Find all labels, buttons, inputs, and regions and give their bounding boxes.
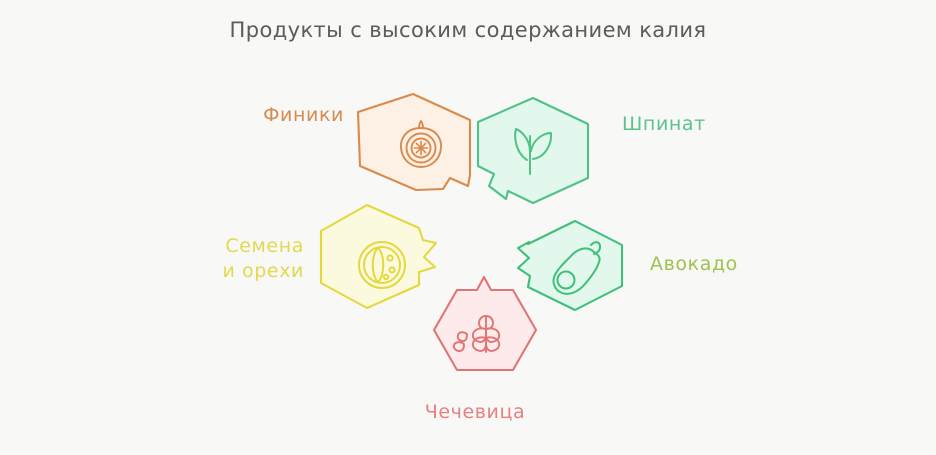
label-nuts: Семенаи орехи: [180, 234, 304, 284]
bubble-spinach-shape: [478, 98, 588, 203]
bubble-avocado[interactable]: [518, 221, 622, 310]
hexagon-bubbles-layer: [0, 0, 936, 455]
label-dates: Финики: [248, 103, 344, 128]
label-spinach: Шпинат: [622, 112, 752, 137]
label-avocado: Авокадо: [650, 252, 780, 277]
bubble-spinach[interactable]: [478, 98, 588, 203]
bubble-dates[interactable]: [358, 94, 470, 190]
bubble-avocado-shape: [518, 221, 622, 310]
bubble-lentils[interactable]: [434, 277, 536, 370]
infographic-canvas: Продукты с высоким содержанием калия: [0, 0, 936, 455]
label-nuts-line1: Семена: [225, 235, 304, 257]
bubble-nuts-shape: [321, 205, 436, 308]
bubble-nuts[interactable]: [321, 205, 436, 308]
label-nuts-line2: и орехи: [222, 260, 304, 282]
bubble-lentils-shape: [434, 277, 536, 370]
label-lentils: Чечевица: [390, 400, 560, 425]
